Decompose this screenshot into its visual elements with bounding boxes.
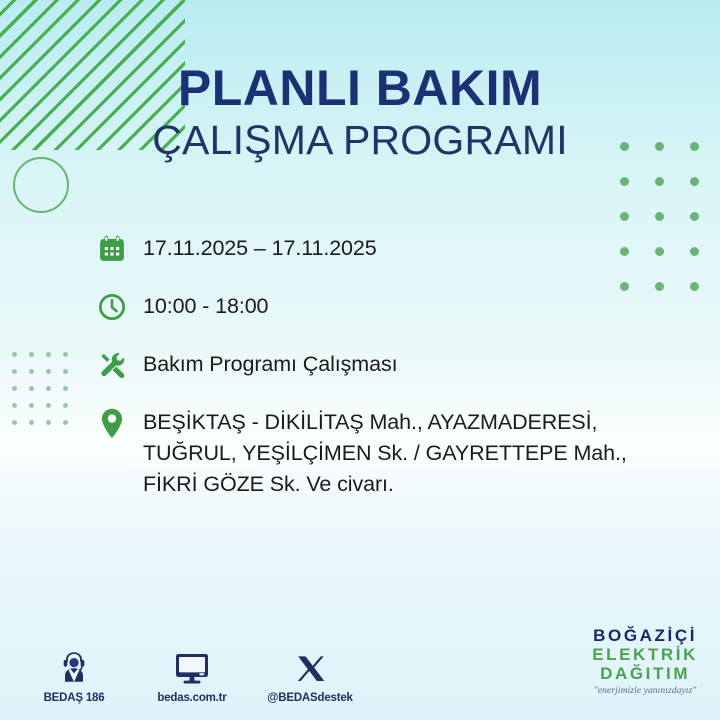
brand-line-bogazici: BOĞAZİÇİ	[592, 626, 698, 645]
monitor-icon	[173, 645, 211, 685]
footer-contact-links: BEDAŞ 186 bedas.com.tr @BEDASdestek	[30, 645, 354, 704]
contact-phone-label: BEDAŞ 186	[44, 692, 105, 704]
info-row-work-type: Bakım Programı Çalışması	[97, 344, 687, 386]
clock-icon	[97, 286, 143, 328]
location-pin-icon	[97, 402, 143, 444]
page-subtitle: ÇALIŞMA PROGRAMI	[0, 118, 720, 163]
poster-headline: PLANLI BAKIM ÇALIŞMA PROGRAMI	[0, 62, 720, 163]
poster-canvas: PLANLI BAKIM ÇALIŞMA PROGRAMI	[0, 0, 720, 720]
brand-logo: BOĞAZİÇİ ELEKTRİK DAĞITIM "enerjimizle y…	[592, 626, 698, 696]
brand-line-elektrik: ELEKTRİK	[592, 645, 698, 664]
page-title: PLANLI BAKIM	[0, 62, 720, 114]
outage-location: BEŞİKTAŞ - DİKİLİTAŞ Mah., AYAZMADERESİ,…	[143, 402, 687, 500]
contact-social[interactable]: @BEDASdestek	[266, 645, 354, 704]
outage-date-range: 17.11.2025 – 17.11.2025	[143, 228, 377, 263]
support-agent-icon	[57, 645, 91, 685]
info-row-time: 10:00 - 18:00	[97, 286, 687, 328]
dot-grid-left-decoration	[12, 352, 80, 437]
contact-phone[interactable]: BEDAŞ 186	[30, 645, 118, 704]
circle-outline-decoration	[13, 157, 69, 213]
outage-time-range: 10:00 - 18:00	[143, 286, 268, 321]
contact-social-label: @BEDASdestek	[267, 692, 353, 704]
info-row-date: 17.11.2025 – 17.11.2025	[97, 228, 687, 270]
tools-icon	[97, 344, 143, 386]
brand-tagline: "enerjimizle yanınızdayız"	[592, 686, 698, 696]
info-row-location: BEŞİKTAŞ - DİKİLİTAŞ Mah., AYAZMADERESİ,…	[97, 402, 687, 500]
x-social-icon	[294, 645, 326, 685]
contact-website-label: bedas.com.tr	[157, 692, 226, 704]
outage-info-list: 17.11.2025 – 17.11.2025 10:00 - 18:00 Ba…	[97, 228, 687, 500]
calendar-icon	[97, 228, 143, 270]
outage-work-type: Bakım Programı Çalışması	[143, 344, 397, 379]
brand-line-dagitim: DAĞITIM	[592, 664, 698, 683]
contact-website[interactable]: bedas.com.tr	[148, 645, 236, 704]
